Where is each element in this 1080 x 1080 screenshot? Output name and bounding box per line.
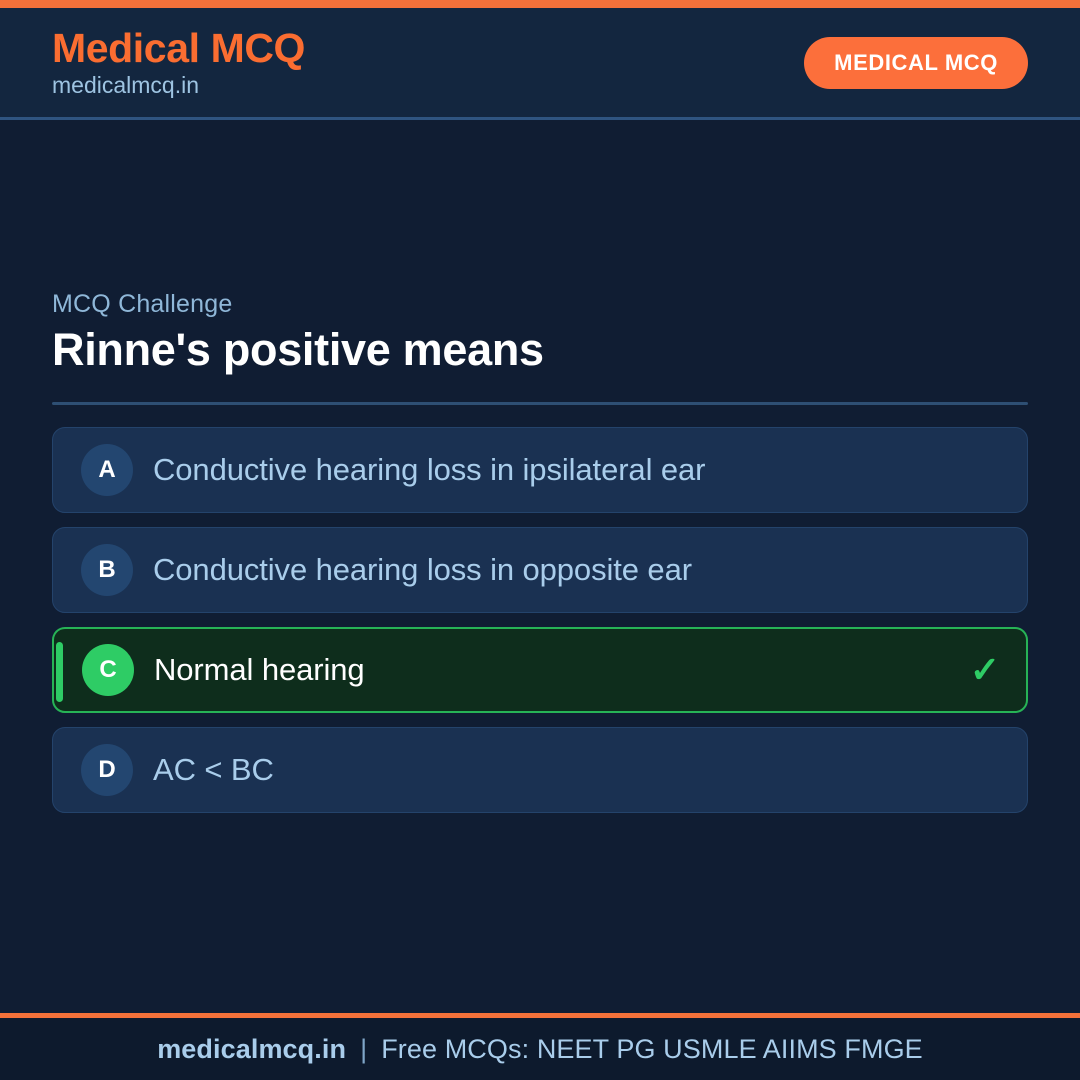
correct-accent-bar — [56, 642, 63, 702]
question-block: MCQ Challenge Rinne's positive means A C… — [52, 290, 1028, 812]
brand-subtitle: medicalmcq.in — [52, 72, 305, 100]
option-b-badge: B — [81, 544, 133, 596]
option-d-label: AC < BC — [153, 752, 274, 788]
main-content: MCQ Challenge Rinne's positive means A C… — [0, 120, 1080, 1013]
option-c[interactable]: C Normal hearing ✓ — [52, 627, 1028, 713]
option-d[interactable]: D AC < BC — [52, 727, 1028, 813]
options-list: A Conductive hearing loss in ipsilateral… — [52, 427, 1028, 813]
mcq-card: Medical MCQ medicalmcq.in MEDICAL MCQ MC… — [0, 0, 1080, 1080]
check-icon: ✓ — [970, 652, 1000, 688]
option-d-badge: D — [81, 744, 133, 796]
option-c-label: Normal hearing — [154, 652, 365, 688]
option-b-label: Conductive hearing loss in opposite ear — [153, 552, 692, 588]
footer-separator: | — [346, 1034, 381, 1065]
option-c-badge: C — [82, 644, 134, 696]
title-divider — [52, 402, 1028, 405]
brand-title: Medical MCQ — [52, 26, 305, 70]
option-a-badge: A — [81, 444, 133, 496]
brand-logo: Medical MCQ medicalmcq.in — [52, 26, 305, 100]
page-footer: medicalmcq.in | Free MCQs: NEET PG USMLE… — [0, 1013, 1080, 1080]
top-accent-bar — [0, 0, 1080, 8]
brand-pill-badge: MEDICAL MCQ — [804, 37, 1028, 89]
page-header: Medical MCQ medicalmcq.in MEDICAL MCQ — [0, 8, 1080, 120]
option-a-label: Conductive hearing loss in ipsilateral e… — [153, 452, 705, 488]
page-title: Rinne's positive means — [52, 325, 1028, 375]
footer-tagline: Free MCQs: NEET PG USMLE AIIMS FMGE — [381, 1034, 923, 1065]
option-a[interactable]: A Conductive hearing loss in ipsilateral… — [52, 427, 1028, 513]
question-kicker: MCQ Challenge — [52, 290, 1028, 319]
option-b[interactable]: B Conductive hearing loss in opposite ea… — [52, 527, 1028, 613]
footer-site: medicalmcq.in — [157, 1034, 346, 1065]
